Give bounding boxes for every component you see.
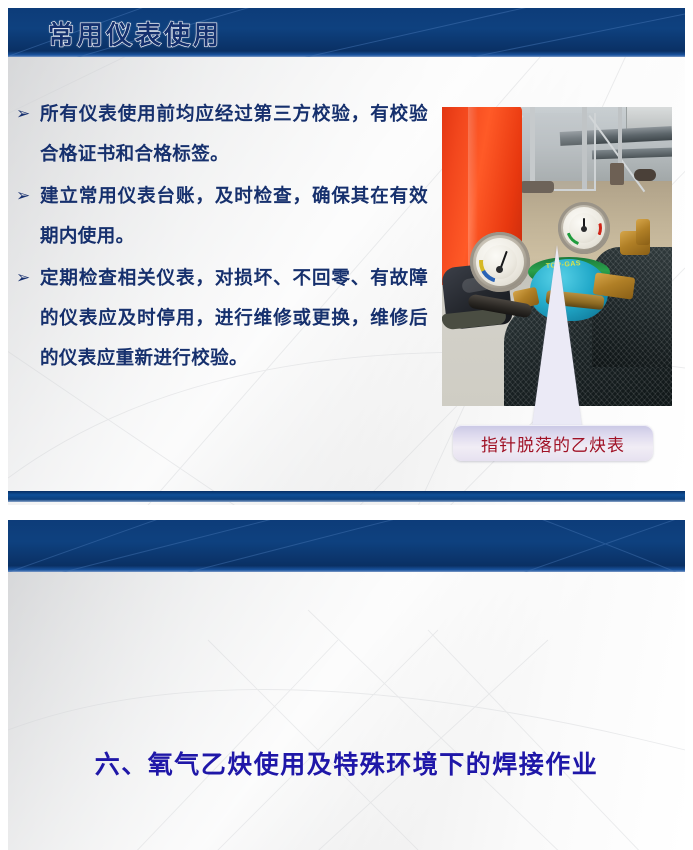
list-item-label: 所有仪表使用前均应经过第三方校验，有校验合格证书和合格标签。 [40, 94, 428, 174]
slide2-top-banner [8, 520, 685, 572]
list-item-label: 定期检查相关仪表，对损坏、不回零、有故障的仪表应及时停用，进行维修或更换，维修后… [40, 258, 428, 378]
section-title: 六、氧气乙炔使用及特殊环境下的焊接作业 [8, 745, 685, 781]
slide-common-instrument-usage: 常用仪表使用 ➢ 所有仪表使用前均应经过第三方校验，有校验合格证书和合格标签。 … [8, 8, 685, 505]
slide1-title-banner: 常用仪表使用 [8, 8, 685, 57]
gauge-inner-face [483, 245, 517, 279]
list-item: ➢ 定期检查相关仪表，对损坏、不回零、有故障的仪表应及时停用，进行维修或更换，维… [16, 258, 428, 378]
arrow-bullet-icon: ➢ [16, 94, 40, 134]
gauge-hub [496, 266, 503, 273]
arrow-bullet-icon: ➢ [16, 258, 40, 298]
slide-section-divider: 六、氧气乙炔使用及特殊环境下的焊接作业 [8, 520, 685, 850]
slide1-bottom-rule [8, 491, 685, 502]
list-item: ➢ 所有仪表使用前均应经过第三方校验，有校验合格证书和合格标签。 [16, 94, 428, 174]
photo-dirt-patch [520, 181, 554, 193]
gauge-hub [581, 226, 587, 232]
photo-brass-fitting-b [636, 219, 650, 245]
bullet-list: ➢ 所有仪表使用前均应经过第三方校验，有校验合格证书和合格标签。 ➢ 建立常用仪… [16, 94, 428, 380]
callout-label: 指针脱落的乙炔表 [481, 431, 625, 456]
list-item: ➢ 建立常用仪表台账，及时检查，确保其在有效期内使用。 [16, 176, 428, 256]
presentation-page: 常用仪表使用 ➢ 所有仪表使用前均应经过第三方校验，有校验合格证书和合格标签。 … [0, 0, 693, 850]
arrow-bullet-icon: ➢ [16, 176, 40, 216]
photo-drum-b [634, 169, 656, 181]
list-item-label: 建立常用仪表台账，及时检查，确保其在有效期内使用。 [40, 176, 428, 256]
callout-pointer [531, 245, 583, 435]
photo-column-b [582, 107, 587, 189]
callout-box: 指针脱落的乙炔表 [453, 425, 653, 461]
banner-shine-lines [8, 520, 685, 572]
photo-pressure-gauge-lower [470, 232, 530, 292]
slide1-title: 常用仪表使用 [48, 15, 222, 52]
photo-drum-a [610, 163, 624, 185]
